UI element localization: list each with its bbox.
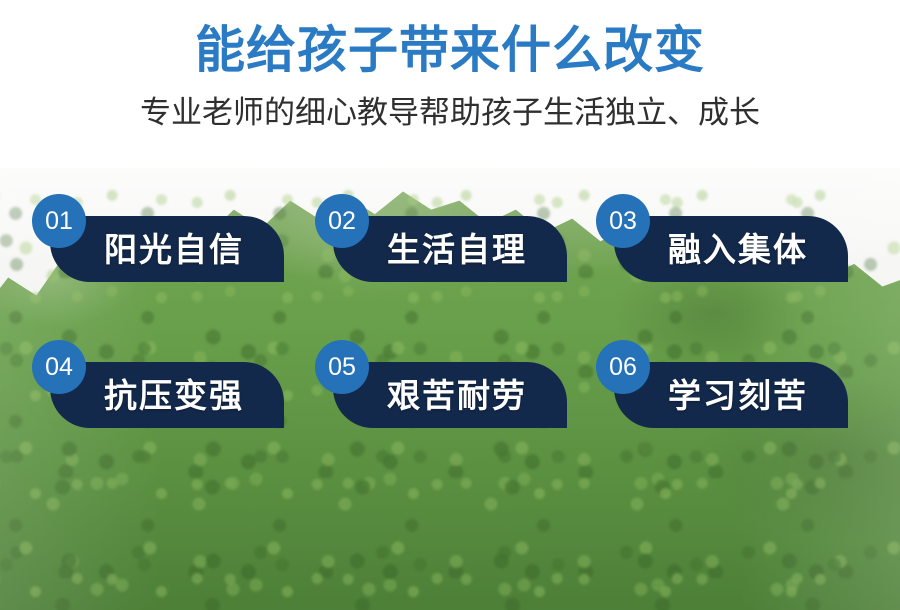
benefit-card-label: 阳光自信 <box>90 233 244 266</box>
benefit-card-number: 05 <box>328 355 356 380</box>
promo-poster: 能给孩子带来什么改变 专业老师的细心教导帮助孩子生活独立、成长 阳光自信 01 … <box>0 0 900 610</box>
page-title: 能给孩子带来什么改变 <box>0 22 900 80</box>
benefit-card-label: 生活自理 <box>373 233 527 266</box>
benefit-card-badge: 05 <box>315 340 369 394</box>
benefit-card-badge: 04 <box>32 340 86 394</box>
benefit-card-05[interactable]: 艰苦耐劳 05 <box>315 340 567 428</box>
benefit-card-number: 03 <box>609 209 637 234</box>
benefit-card-label: 融入集体 <box>654 233 808 266</box>
benefit-card-number: 04 <box>45 355 73 380</box>
benefit-card-06[interactable]: 学习刻苦 06 <box>596 340 848 428</box>
benefit-card-badge: 01 <box>32 194 86 248</box>
benefit-card-label: 抗压变强 <box>90 379 244 412</box>
header: 能给孩子带来什么改变 专业老师的细心教导帮助孩子生活独立、成长 <box>0 0 900 168</box>
benefit-card-03[interactable]: 融入集体 03 <box>596 194 848 282</box>
benefit-card-04[interactable]: 抗压变强 04 <box>32 340 284 428</box>
benefit-card-badge: 06 <box>596 340 650 394</box>
benefit-card-badge: 03 <box>596 194 650 248</box>
benefit-card-01[interactable]: 阳光自信 01 <box>32 194 284 282</box>
benefit-card-badge: 02 <box>315 194 369 248</box>
benefit-card-label: 艰苦耐劳 <box>373 379 527 412</box>
page-subtitle: 专业老师的细心教导帮助孩子生活独立、成长 <box>0 94 900 131</box>
benefit-card-02[interactable]: 生活自理 02 <box>315 194 567 282</box>
benefit-card-label: 学习刻苦 <box>654 379 808 412</box>
benefit-card-number: 01 <box>45 209 73 234</box>
benefit-card-number: 06 <box>609 355 637 380</box>
benefit-card-grid: 阳光自信 01 生活自理 02 融入集体 03 抗压变强 <box>0 160 900 610</box>
benefit-card-number: 02 <box>328 209 356 234</box>
